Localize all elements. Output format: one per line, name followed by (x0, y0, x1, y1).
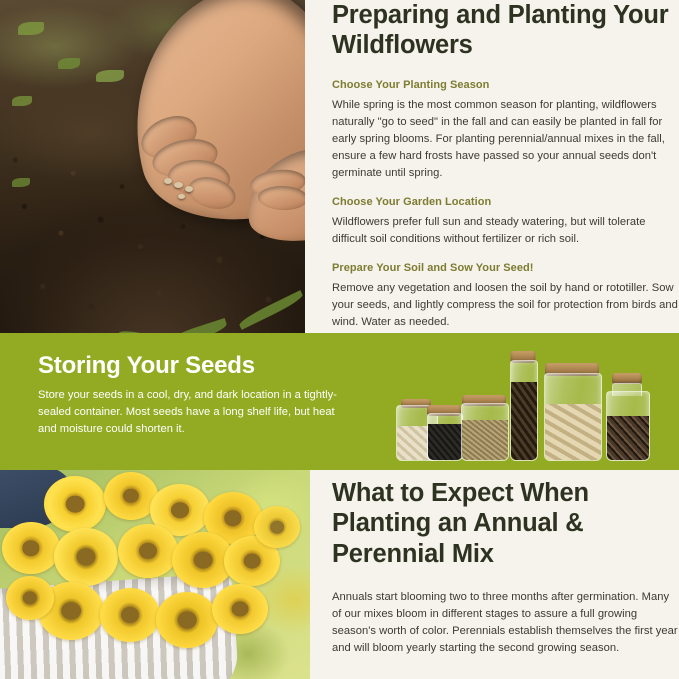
jar-brown-seeds (461, 395, 507, 461)
preparing-text-column: Preparing and Planting Your Wildflowers … (332, 0, 679, 331)
seed (174, 182, 183, 188)
jar-striped-dark-seeds (606, 373, 648, 461)
seed (178, 194, 185, 199)
sprout-leaf (12, 178, 30, 187)
zinnia-flower (118, 524, 178, 578)
subheading-planting-season: Choose Your Planting Season (332, 78, 679, 93)
expect-title: What to Expect When Planting an Annual &… (332, 478, 679, 569)
body-garden-location: Wildflowers prefer full sun and steady w… (332, 214, 679, 248)
jar-glass (544, 373, 602, 461)
image-hands-planting-seeds (0, 0, 305, 333)
sprout-leaf (96, 70, 124, 82)
infographic-page: Preparing and Planting Your Wildflowers … (0, 0, 679, 679)
jar-glass (510, 360, 538, 461)
expect-body: Annuals start blooming two to three mont… (332, 589, 679, 657)
subheading-garden-location: Choose Your Garden Location (332, 195, 679, 210)
jar-glass (427, 413, 463, 461)
zinnia-flower (2, 522, 60, 574)
body-planting-season: While spring is the most common season f… (332, 97, 679, 182)
subheading-prepare-soil: Prepare Your Soil and Sow Your Seed! (332, 261, 679, 276)
sprout-leaf (58, 58, 80, 69)
zinnia-flower (6, 576, 54, 620)
seed (185, 186, 193, 192)
zinnia-flower (156, 592, 218, 648)
jar-black-seeds (427, 405, 461, 461)
expect-text-column: What to Expect When Planting an Annual &… (332, 478, 679, 657)
zinnia-flower (54, 528, 118, 586)
sprout-leaf (18, 22, 44, 35)
page-title: Preparing and Planting Your Wildflowers (332, 0, 679, 60)
jar-glass (461, 403, 509, 461)
jar-contents (545, 404, 601, 460)
sprout-leaf (12, 96, 32, 106)
zinnia-flower (100, 588, 160, 642)
jar-contents (462, 420, 508, 460)
section-what-to-expect: What to Expect When Planting an Annual &… (0, 470, 679, 679)
storing-text-column: Storing Your Seeds Store your seeds in a… (38, 353, 338, 438)
jar-glass (606, 391, 650, 461)
section-preparing-and-planting: Preparing and Planting Your Wildflowers … (0, 0, 679, 333)
image-seed-jars (388, 333, 668, 470)
jar-contents (428, 424, 462, 460)
jar-tall-tube-dark-seeds (510, 351, 536, 461)
zinnia-flower (44, 476, 106, 532)
storing-body: Store your seeds in a cool, dry, and dar… (38, 387, 338, 437)
zinnia-flower (212, 584, 268, 634)
storing-title: Storing Your Seeds (38, 353, 338, 379)
jar-large-pale-seeds (544, 363, 600, 461)
body-prepare-soil: Remove any vegetation and loosen the soi… (332, 280, 679, 331)
image-yellow-zinnias-basket (0, 470, 310, 679)
jar-contents (607, 416, 649, 460)
jar-contents (511, 382, 537, 460)
seed (164, 178, 172, 184)
zinnia-flower (254, 506, 300, 548)
section-storing-your-seeds: Storing Your Seeds Store your seeds in a… (0, 333, 679, 470)
